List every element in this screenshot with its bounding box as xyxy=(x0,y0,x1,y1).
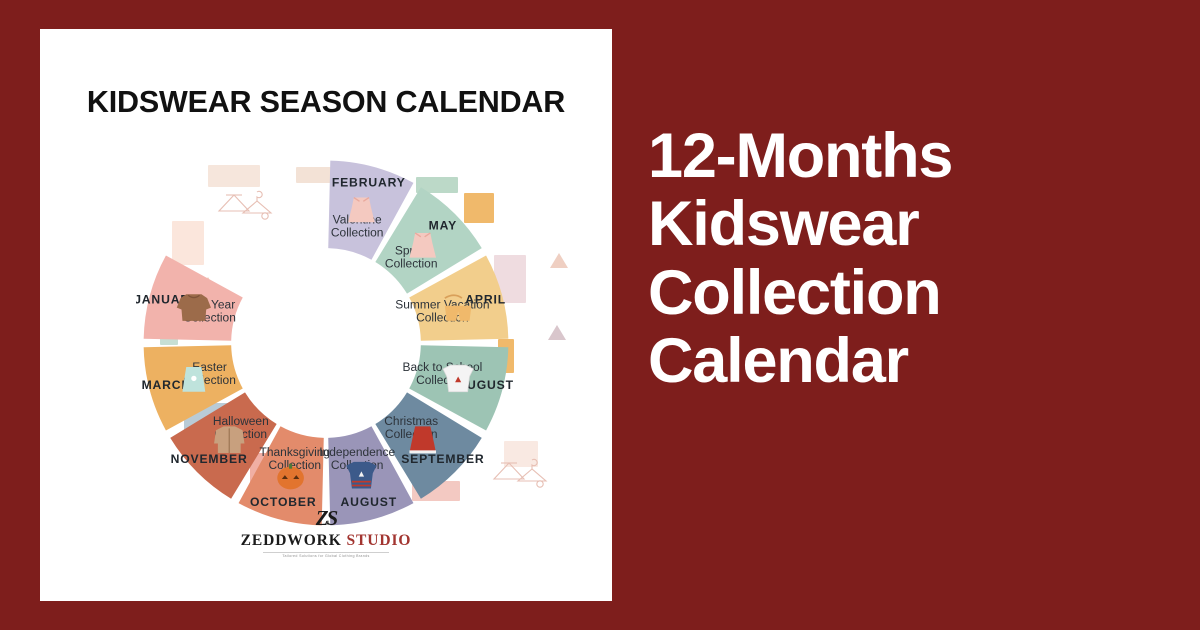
page-title: KIDSWEAR SEASON CALENDAR xyxy=(40,85,612,120)
decorative-triangle-icon xyxy=(548,325,566,340)
logo-wordmark: ZEDDWORK STUDIO xyxy=(40,532,612,550)
segment-month-label: NOVEMBER xyxy=(171,452,248,466)
logo-name-first: ZEDDWORK xyxy=(241,532,342,549)
calendar-card: KIDSWEAR SEASON CALENDAR FEBRUARYValenti… xyxy=(40,29,612,601)
segment-month-label: OCTOBER xyxy=(250,495,317,509)
donut-segments xyxy=(144,161,509,526)
decorative-triangle-icon xyxy=(550,253,568,268)
poster-root: KIDSWEAR SEASON CALENDAR FEBRUARYValenti… xyxy=(0,0,1200,630)
season-wheel: FEBRUARYValentineCollectionMAYSprterColl… xyxy=(136,153,516,533)
studio-logo: ZS ZEDDWORK STUDIO Tailored Solutions fo… xyxy=(40,508,612,558)
donut-chart: FEBRUARYValentineCollectionMAYSprterColl… xyxy=(136,153,516,533)
headline-line-1: 12-Months xyxy=(648,122,1168,190)
headline: 12-MonthsKidswearCollectionCalendar xyxy=(648,122,1168,395)
headline-line-3: Collection xyxy=(648,259,1168,327)
logo-monogram-text: ZS xyxy=(316,506,337,530)
headline-line-2: Kidswear xyxy=(648,190,1168,258)
coat-icon xyxy=(214,426,244,453)
logo-divider xyxy=(263,552,389,553)
segment-month-label: MAY xyxy=(429,218,457,232)
bunny-dress-icon xyxy=(182,367,205,392)
logo-name-second: STUDIO xyxy=(347,532,412,549)
segment-month-label: SEPTEMBER xyxy=(401,452,484,466)
segment-month-label: FEBRUARY xyxy=(332,176,406,190)
logo-monogram-icon: ZS xyxy=(40,508,612,529)
logo-tagline: Tailored Solutions for Global Clothing B… xyxy=(40,554,612,558)
segment-month-label: AUGUST xyxy=(341,495,397,509)
headline-line-4: Calendar xyxy=(648,327,1168,395)
